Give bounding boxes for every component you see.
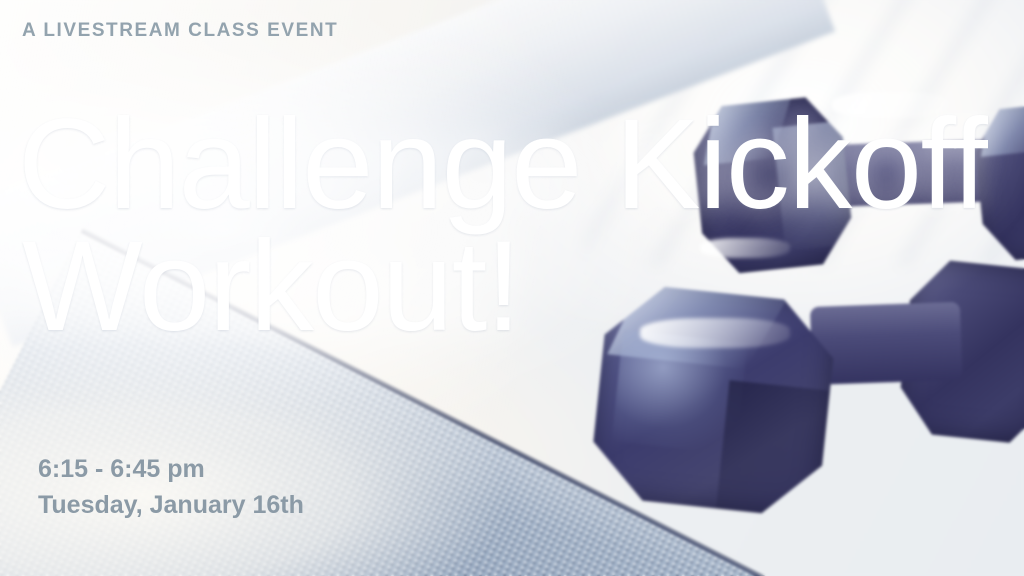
event-poster: A LIVESTREAM CLASS EVENT Challenge Kicko…: [0, 0, 1024, 576]
headline-line-2: Workout!: [18, 226, 986, 348]
headline-line-1: Challenge Kickoff: [18, 104, 986, 226]
eyebrow-label: A LIVESTREAM CLASS EVENT: [22, 20, 338, 42]
event-time: 6:15 - 6:45 pm: [38, 452, 304, 488]
page-title: Challenge Kickoff Workout!: [18, 104, 986, 347]
event-details: 6:15 - 6:45 pm Tuesday, January 16th: [38, 452, 304, 523]
poster-content: A LIVESTREAM CLASS EVENT Challenge Kicko…: [0, 0, 1024, 576]
event-date: Tuesday, January 16th: [38, 488, 304, 524]
